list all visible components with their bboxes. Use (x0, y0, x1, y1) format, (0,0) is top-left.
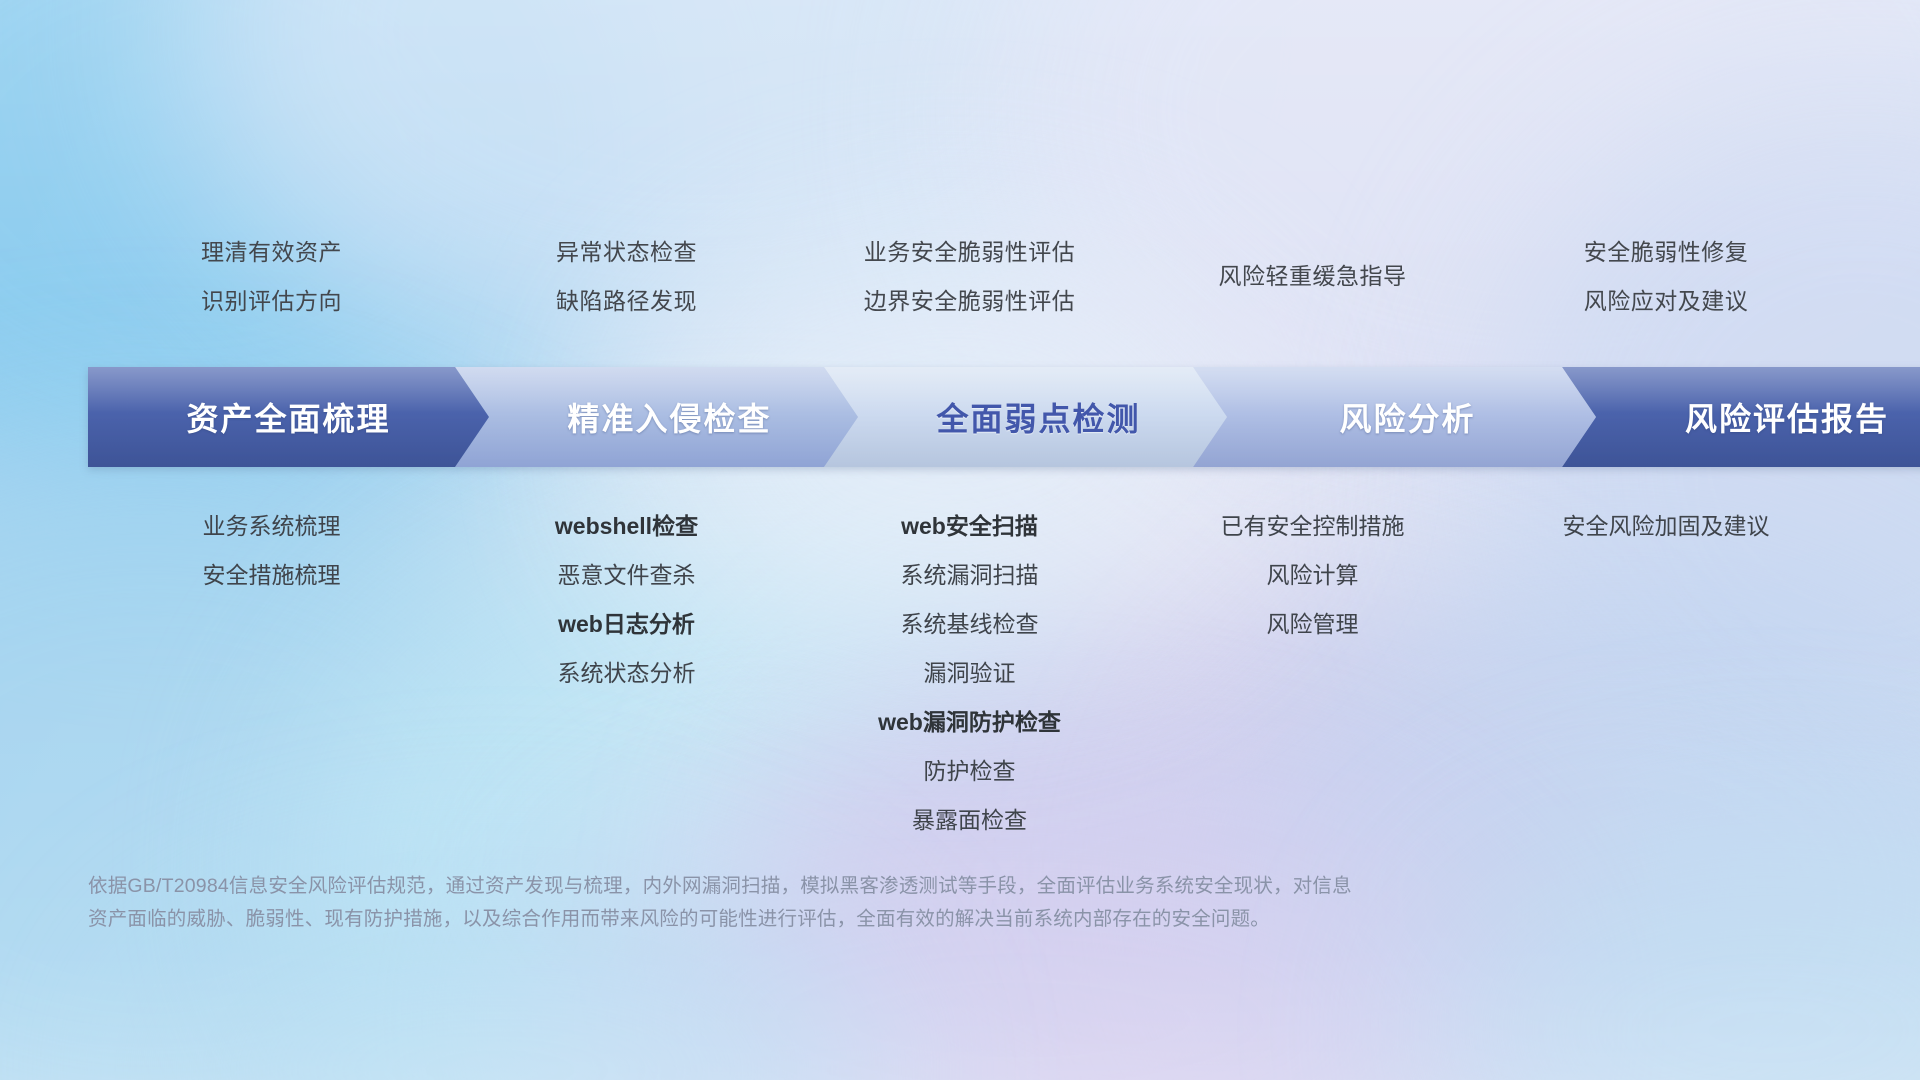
top-notes-row: 理清有效资产 识别评估方向 异常状态检查 缺陷路径发现 业务安全脆弱性评估 边界… (88, 228, 1848, 326)
list-item: 暴露面检查 (798, 796, 1141, 845)
stage-arrow-risk-analysis[interactable]: 风险分析 (1193, 367, 1596, 467)
stage-arrow-asset-inventory[interactable]: 资产全面梳理 (88, 367, 489, 467)
stage-items-assessment-report: 安全风险加固及建议 (1484, 502, 1848, 551)
stage-items-asset-inventory: 业务系统梳理 安全措施梳理 (88, 502, 455, 600)
stage-title: 全面弱点检测 (936, 394, 1140, 440)
top-notes-weakness-detection: 业务安全脆弱性评估 边界安全脆弱性评估 (798, 228, 1141, 326)
top-note: 安全脆弱性修复 (1484, 228, 1848, 277)
top-note: 识别评估方向 (88, 277, 455, 326)
list-item: web漏洞防护检查 (798, 698, 1141, 747)
stage-items-weakness-detection: web安全扫描 系统漏洞扫描 系统基线检查 漏洞验证 web漏洞防护检查 防护检… (798, 502, 1141, 845)
slide-canvas: 理清有效资产 识别评估方向 异常状态检查 缺陷路径发现 业务安全脆弱性评估 边界… (0, 0, 1920, 1080)
footer-line: 依据GB/T20984信息安全风险评估规范，通过资产发现与梳理，内外网漏洞扫描，… (88, 870, 1618, 903)
top-notes-assessment-report: 安全脆弱性修复 风险应对及建议 (1484, 228, 1848, 326)
list-item: 业务系统梳理 (88, 502, 455, 551)
stage-title: 资产全面梳理 (186, 394, 390, 440)
top-note: 边界安全脆弱性评估 (798, 277, 1141, 326)
list-item: 已有安全控制措施 (1141, 502, 1484, 551)
list-item: 漏洞验证 (798, 649, 1141, 698)
top-notes-asset-inventory: 理清有效资产 识别评估方向 (88, 228, 455, 326)
stage-title: 风险分析 (1339, 394, 1475, 440)
stage-items-risk-analysis: 已有安全控制措施 风险计算 风险管理 (1141, 502, 1484, 649)
list-item: 恶意文件查杀 (455, 551, 798, 600)
top-notes-intrusion-check: 异常状态检查 缺陷路径发现 (455, 228, 798, 326)
stage-arrow-assessment-report[interactable]: 风险评估报告 (1562, 367, 1920, 467)
top-note: 理清有效资产 (88, 228, 455, 277)
list-item: 系统基线检查 (798, 600, 1141, 649)
stage-arrow-weakness-detection[interactable]: 全面弱点检测 (824, 367, 1227, 467)
list-item: 安全措施梳理 (88, 551, 455, 600)
list-item: 风险管理 (1141, 600, 1484, 649)
list-item: 系统漏洞扫描 (798, 551, 1141, 600)
process-arrow-banner: 资产全面梳理 精准入侵检查 全面弱点检测 风险分析 风险评估报告 (88, 367, 1848, 467)
footer-description: 依据GB/T20984信息安全风险评估规范，通过资产发现与梳理，内外网漏洞扫描，… (88, 870, 1618, 936)
list-item: 防护检查 (798, 747, 1141, 796)
stage-title: 精准入侵检查 (567, 394, 771, 440)
stage-items-intrusion-check: webshell检查 恶意文件查杀 web日志分析 系统状态分析 (455, 502, 798, 698)
list-item: web安全扫描 (798, 502, 1141, 551)
stage-title: 风险评估报告 (1685, 394, 1889, 440)
list-item: 风险计算 (1141, 551, 1484, 600)
top-notes-risk-analysis: 风险轻重缓急指导 (1141, 228, 1484, 301)
top-note: 风险轻重缓急指导 (1141, 252, 1484, 301)
footer-line: 资产面临的威胁、脆弱性、现有防护措施，以及综合作用而带来风险的可能性进行评估，全… (88, 903, 1618, 936)
top-note: 业务安全脆弱性评估 (798, 228, 1141, 277)
top-note: 风险应对及建议 (1484, 277, 1848, 326)
list-item: 系统状态分析 (455, 649, 798, 698)
top-note: 缺陷路径发现 (455, 277, 798, 326)
list-item: 安全风险加固及建议 (1484, 502, 1848, 551)
stage-arrow-intrusion-check[interactable]: 精准入侵检查 (455, 367, 858, 467)
list-item: web日志分析 (455, 600, 798, 649)
top-note: 异常状态检查 (455, 228, 798, 277)
stage-details-row: 业务系统梳理 安全措施梳理 webshell检查 恶意文件查杀 web日志分析 … (88, 502, 1848, 845)
list-item: webshell检查 (455, 502, 798, 551)
